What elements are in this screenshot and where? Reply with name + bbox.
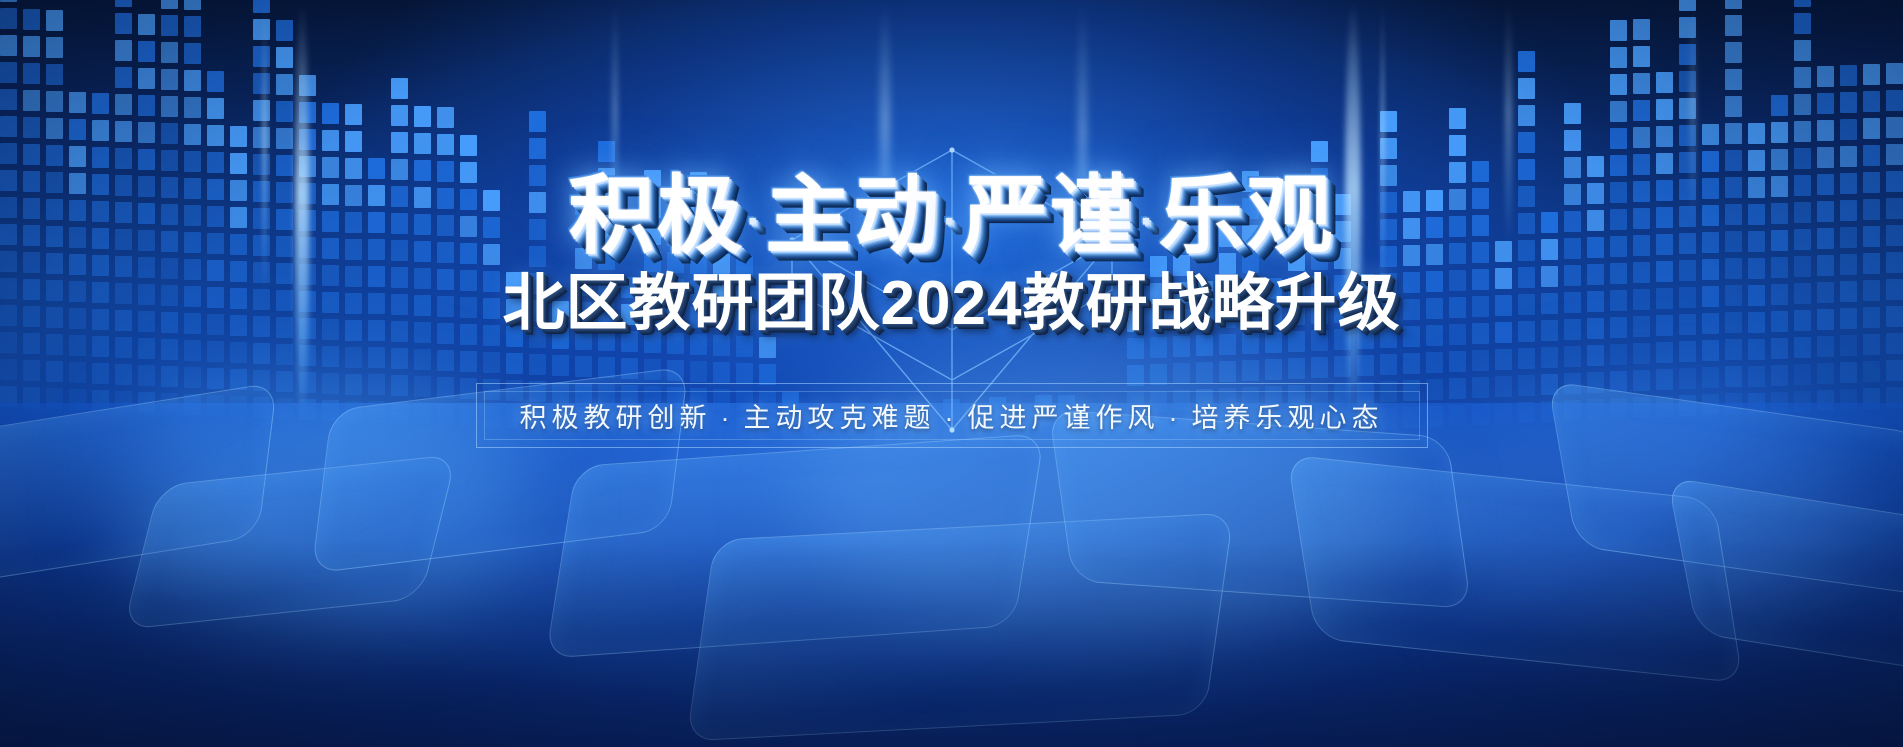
- floor-tile: [1667, 477, 1903, 685]
- title-word: 积极: [569, 168, 745, 264]
- hero-content: 积极·主动·严谨·乐观 北区教研团队2024教研战略升级 积极教研创新·主动攻克…: [0, 0, 1903, 448]
- banner-hero: 积极·主动·严谨·乐观 北区教研团队2024教研战略升级 积极教研创新·主动攻克…: [0, 0, 1903, 747]
- title-separator-dot: ·: [745, 197, 766, 246]
- title-separator-dot: ·: [941, 197, 962, 246]
- floor-tile: [1287, 454, 1744, 683]
- tagline-separator: ·: [712, 403, 744, 433]
- title-word: 乐观: [1158, 168, 1334, 264]
- tagline-separator: ·: [1160, 403, 1192, 433]
- page-subtitle: 北区教研团队2024教研战略升级: [503, 273, 1401, 335]
- title-word: 严谨: [962, 168, 1138, 264]
- tagline-item: 培养乐观心态: [1192, 403, 1384, 433]
- tagline-item: 促进严谨作风: [968, 403, 1160, 433]
- page-title: 积极·主动·严谨·乐观: [569, 173, 1335, 259]
- floor-tile: [686, 513, 1234, 742]
- tagline-item: 积极教研创新: [520, 403, 712, 433]
- floor-plane: [0, 403, 1903, 747]
- tagline-text: 积极教研创新·主动攻克难题·促进严谨作风·培养乐观心态: [520, 396, 1384, 435]
- title-word: 主动: [765, 168, 941, 264]
- tagline-frame: 积极教研创新·主动攻克难题·促进严谨作风·培养乐观心态: [476, 383, 1428, 448]
- tagline-separator: ·: [936, 403, 968, 433]
- floor-tile: [123, 454, 457, 630]
- floor-tile: [545, 434, 1044, 659]
- tagline-item: 主动攻克难题: [744, 403, 936, 433]
- title-separator-dot: ·: [1138, 197, 1159, 246]
